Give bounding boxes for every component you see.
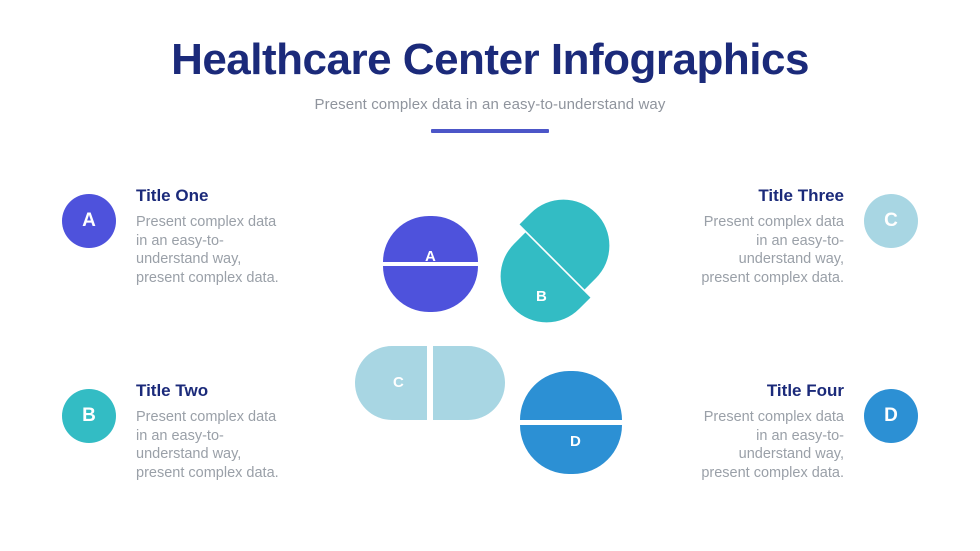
entry-title-label-three: Title Three: [618, 186, 844, 206]
entry-text-four: Title Four Present complex data in an ea…: [618, 381, 864, 483]
entry-desc-two: Present complex data in an easy-to- unde…: [136, 408, 362, 482]
entry-title-label-four: Title Four: [618, 381, 844, 401]
entry-text-two: Title Two Present complex data in an eas…: [116, 381, 362, 483]
pill-a-top-half: [383, 216, 478, 262]
entry-title-one[interactable]: A Title One Present complex data in an e…: [62, 186, 362, 288]
pill-graphic-stage: A B C D: [340, 186, 650, 506]
header: Healthcare Center Infographics Present c…: [0, 36, 980, 133]
title-divider: [431, 129, 549, 133]
entry-desc-three: Present complex data in an easy-to- unde…: [618, 213, 844, 287]
pill-c-left-segment: [355, 346, 427, 420]
pill-d-icon[interactable]: D: [520, 371, 622, 474]
pill-c-right-segment: [433, 346, 505, 420]
page-title: Healthcare Center Infographics: [0, 36, 980, 84]
pill-a-icon[interactable]: A: [383, 216, 478, 312]
infographic-slide: Healthcare Center Infographics Present c…: [0, 0, 980, 551]
entry-title-two[interactable]: B Title Two Present complex data in an e…: [62, 381, 362, 483]
entry-text-one: Title One Present complex data in an eas…: [116, 186, 362, 288]
badge-b: B: [62, 389, 116, 443]
entry-text-three: Title Three Present complex data in an e…: [618, 186, 864, 288]
entry-title-three[interactable]: C Title Three Present complex data in an…: [618, 186, 918, 288]
badge-c: C: [864, 194, 918, 248]
badge-d: D: [864, 389, 918, 443]
badge-a: A: [62, 194, 116, 248]
entry-title-label-one: Title One: [136, 186, 362, 206]
page-subtitle: Present complex data in an easy-to-under…: [0, 96, 980, 113]
pill-d-bottom-half: [520, 425, 622, 474]
entry-desc-four: Present complex data in an easy-to- unde…: [618, 408, 844, 482]
entry-title-label-two: Title Two: [136, 381, 362, 401]
entry-desc-one: Present complex data in an easy-to- unde…: [136, 213, 362, 287]
pill-c-icon[interactable]: C: [355, 346, 505, 420]
entry-title-four[interactable]: D Title Four Present complex data in an …: [618, 381, 918, 483]
pill-d-top-half: [520, 371, 622, 420]
pill-b-icon[interactable]: B: [480, 196, 630, 326]
pill-a-bottom-half: [383, 266, 478, 312]
